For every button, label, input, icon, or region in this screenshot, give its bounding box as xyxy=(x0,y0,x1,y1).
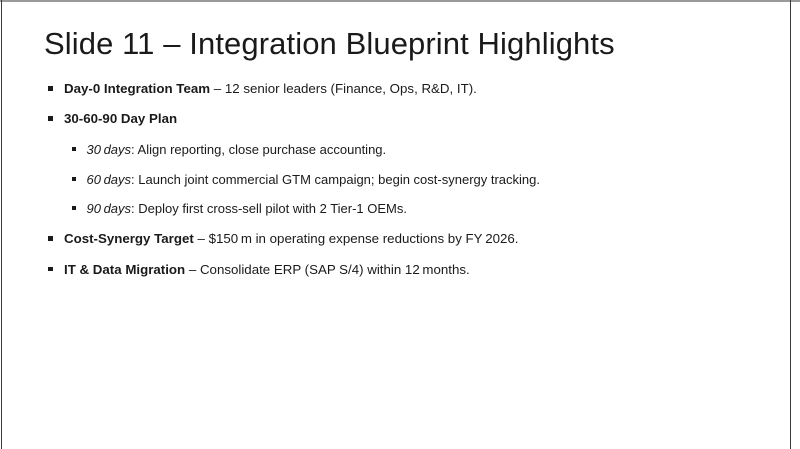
bullet-separator: – xyxy=(210,81,225,96)
slide-top-rule xyxy=(0,0,800,2)
bullet-lead: Day-0 Integration Team xyxy=(64,81,210,96)
bullet-lead: 30 days xyxy=(87,142,132,157)
bullet-lead: 90 days xyxy=(87,201,132,216)
bullet-lead: 30-60-90 Day Plan xyxy=(64,111,177,126)
bullet-marker-icon xyxy=(48,86,53,91)
slide-canvas: Slide 11 – Integration Blueprint Highlig… xyxy=(0,0,800,449)
slide-title: Slide 11 – Integration Blueprint Highlig… xyxy=(44,26,615,63)
bullet-text: IT & Data Migration – Consolidate ERP (S… xyxy=(64,261,764,279)
bullet-marker-icon xyxy=(48,116,53,121)
bullet-text: 60 days: Launch joint commercial GTM cam… xyxy=(87,171,765,188)
bullet-text: Day-0 Integration Team – 12 senior leade… xyxy=(64,80,764,98)
sub-bullet-item: 90 days: Deploy first cross-sell pilot w… xyxy=(44,200,764,217)
bullet-text: 30 days: Align reporting, close purchase… xyxy=(87,141,765,158)
sub-bullet-item: 30 days: Align reporting, close purchase… xyxy=(44,141,764,158)
bullet-lead: IT & Data Migration xyxy=(64,262,185,277)
bullet-rest: 12 senior leaders (Finance, Ops, R&D, IT… xyxy=(225,81,477,96)
bullet-marker-icon xyxy=(72,147,76,151)
bullet-text: 30-60-90 Day Plan xyxy=(64,110,764,128)
bullet-rest: $150 m in operating expense reductions b… xyxy=(209,231,519,246)
bullet-rest: Consolidate ERP (SAP S/4) within 12 mont… xyxy=(200,262,470,277)
bullet-marker-icon xyxy=(48,236,53,241)
sub-bullet-group: 30 days: Align reporting, close purchase… xyxy=(44,141,764,218)
bullet-marker-icon xyxy=(72,177,76,181)
slide-right-border xyxy=(790,0,791,449)
bullet-rest: Align reporting, close purchase accounti… xyxy=(138,142,387,157)
bullet-separator: – xyxy=(194,231,209,246)
bullet-item: IT & Data Migration – Consolidate ERP (S… xyxy=(44,261,764,279)
bullet-text: Cost-Synergy Target – $150 m in operatin… xyxy=(64,230,764,248)
bullet-item: 30-60-90 Day Plan xyxy=(44,110,764,128)
bullet-rest: Deploy first cross-sell pilot with 2 Tie… xyxy=(138,201,407,216)
bullet-lead: 60 days xyxy=(87,172,132,187)
bullet-marker-icon xyxy=(72,206,76,210)
sub-bullet-item: 60 days: Launch joint commercial GTM cam… xyxy=(44,171,764,188)
bullet-item: Cost-Synergy Target – $150 m in operatin… xyxy=(44,230,764,248)
slide-body: Day-0 Integration Team – 12 senior leade… xyxy=(44,80,764,291)
bullet-marker-icon xyxy=(48,267,53,272)
bullet-separator: – xyxy=(185,262,200,277)
bullet-item: Day-0 Integration Team – 12 senior leade… xyxy=(44,80,764,98)
slide-left-border xyxy=(1,0,2,449)
bullet-rest: Launch joint commercial GTM campaign; be… xyxy=(138,172,540,187)
bullet-lead: Cost-Synergy Target xyxy=(64,231,194,246)
bullet-text: 90 days: Deploy first cross-sell pilot w… xyxy=(87,200,765,217)
